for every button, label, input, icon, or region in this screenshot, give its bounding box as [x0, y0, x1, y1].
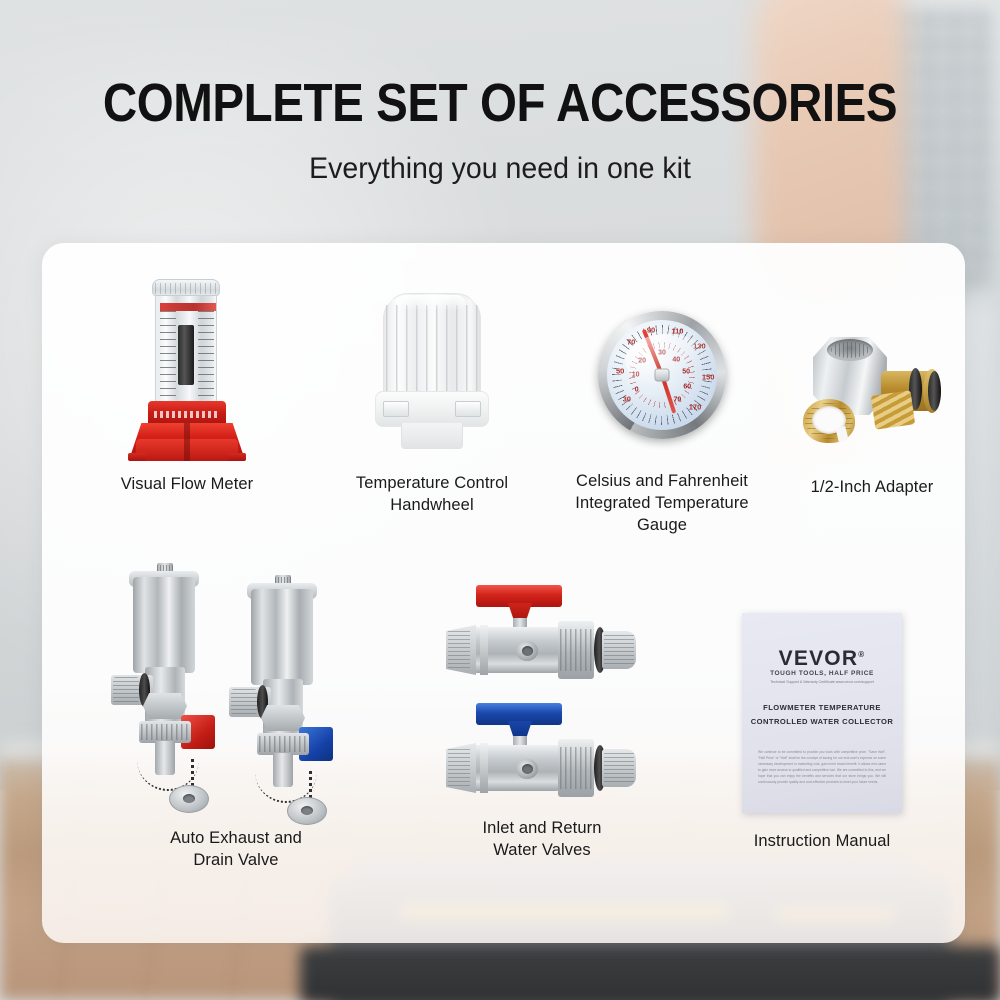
gauge-number-outer-8: 30: [623, 395, 631, 404]
flow-meter-foot-left: [128, 453, 146, 461]
registered-trademark-icon: ®: [858, 650, 865, 659]
auto-exhaust-valve-red: [111, 563, 221, 813]
header-block: COMPLETE SET OF ACCESSORIES Everything y…: [0, 0, 1000, 186]
item-label-visual-flow-meter: Visual Flow Meter: [72, 474, 302, 496]
manual-icon: VEVOR® TOUGH TOOLS, HALF PRICE Technical…: [742, 613, 902, 813]
adapter-nut-threads: [831, 342, 869, 358]
item-auto-exhaust-drain-valve[interactable]: Auto Exhaust and Drain Valve: [86, 563, 386, 872]
vevor-logo-text: VEVOR: [779, 647, 859, 670]
handwheel-window-left: [383, 401, 409, 417]
ball-valve-tail-threads: [604, 753, 634, 783]
item-inlet-return-water-valves[interactable]: Inlet and Return Water Valves: [392, 585, 692, 862]
manual-contact-line: Technical Support & Warranty Certificate…: [756, 680, 888, 684]
drain-cap-hole: [183, 794, 195, 803]
valve-side-port-threads: [113, 677, 139, 703]
valve-lower-nut-ridges: [141, 724, 189, 740]
handwheel-highlight: [397, 295, 465, 311]
gauge-glass-reflection: [625, 334, 709, 386]
valve-side-port-threads: [231, 689, 257, 715]
ball-valve-union-ridges: [560, 747, 592, 789]
background-tool-case-base: [300, 946, 1000, 1000]
adapter-o-ring-2: [928, 371, 941, 411]
drain-cap-hole: [301, 806, 313, 815]
accessories-row-bottom: Auto Exhaust and Drain Valve: [42, 563, 965, 933]
accessories-row-top: Visual Flow Meter Temperature Control Ha…: [42, 263, 965, 573]
ball-valve-hex-threads: [448, 631, 470, 669]
page-title: COMPLETE SET OF ACCESSORIES: [60, 72, 940, 134]
gauge-number-outer-2: 90: [647, 325, 655, 334]
handwheel-window-right: [455, 401, 481, 417]
auto-exhaust-valve-blue: [229, 575, 339, 825]
accessories-card: Visual Flow Meter Temperature Control Ha…: [42, 243, 965, 943]
air-vent-body: [251, 589, 313, 685]
ball-valve-blue: [442, 703, 642, 803]
handwheel-icon: [367, 291, 497, 451]
item-visual-flow-meter[interactable]: Visual Flow Meter: [72, 281, 302, 496]
gauge-face: 70 90 110 130 150 170 50 30 0 10 20 30 4…: [607, 320, 717, 430]
flow-meter-icon: [122, 281, 252, 456]
item-label-temperature-gauge: Celsius and Fahrenheit Integrated Temper…: [547, 471, 777, 536]
auto-exhaust-valve-icon: [111, 563, 361, 818]
item-label-instruction-manual: Instruction Manual: [692, 831, 952, 853]
valve-hex-section: [261, 705, 305, 731]
flow-meter-scale-right: [198, 311, 214, 397]
vevor-logo: VEVOR®: [742, 647, 902, 671]
item-label-auto-exhaust-drain-valve: Auto Exhaust and Drain Valve: [86, 828, 386, 872]
flow-meter-foot-right: [228, 453, 246, 461]
flow-meter-collar-text: [154, 411, 220, 418]
manual-product-title-line1: FLOWMETER TEMPERATURE: [750, 703, 894, 712]
item-instruction-manual[interactable]: VEVOR® TOUGH TOOLS, HALF PRICE Technical…: [692, 613, 952, 853]
manual-body-text: We continue to be committed to provide y…: [758, 749, 886, 786]
ball-valve-union-ridges: [560, 629, 592, 671]
adapter-barbed-end: [871, 390, 915, 429]
gauge-number-inner-1: 0: [635, 387, 639, 394]
gauge-number-outer-6: 170: [689, 402, 702, 411]
flow-meter-float: [178, 325, 194, 385]
manual-product-title-line2: CONTROLLED WATER COLLECTOR: [750, 717, 894, 726]
ball-valve-tail-threads: [604, 635, 634, 665]
item-temperature-control-handwheel[interactable]: Temperature Control Handwheel: [317, 291, 547, 517]
ball-valve-drain-hole: [522, 764, 533, 774]
adapter-icon: [797, 335, 947, 455]
ball-valve-hex-threads: [448, 749, 470, 787]
vevor-tagline: TOUGH TOOLS, HALF PRICE: [742, 670, 902, 677]
temperature-gauge-icon: 70 90 110 130 150 170 50 30 0 10 20 30 4…: [592, 305, 732, 445]
item-label-temperature-control-handwheel: Temperature Control Handwheel: [317, 473, 547, 517]
page-subtitle: Everything you need in one kit: [25, 152, 975, 186]
item-temperature-gauge[interactable]: 70 90 110 130 150 170 50 30 0 10 20 30 4…: [547, 305, 777, 536]
item-half-inch-adapter[interactable]: 1/2-Inch Adapter: [777, 335, 967, 499]
flow-meter-base-notch: [184, 423, 190, 461]
flow-meter-scale-left: [160, 311, 176, 397]
flow-meter-cap-ridges: [155, 283, 217, 294]
air-vent-body: [133, 577, 195, 673]
flow-meter-red-label: [160, 303, 216, 311]
item-label-inlet-return-water-valves: Inlet and Return Water Valves: [392, 818, 692, 862]
handwheel-ribs: [386, 305, 478, 395]
ball-valve-drain-hole: [522, 646, 533, 656]
gauge-number-outer-7: 50: [616, 366, 624, 375]
gauge-number-inner-8: 70: [673, 397, 681, 404]
ball-valve-red: [442, 585, 642, 685]
gauge-number-outer-5: 150: [702, 373, 715, 382]
ball-valve-mid-ring: [480, 625, 488, 675]
ball-valve-mid-ring: [480, 743, 488, 793]
valve-hex-section: [143, 693, 187, 719]
item-label-half-inch-adapter: 1/2-Inch Adapter: [777, 477, 967, 499]
gauge-number-inner-7: 60: [683, 384, 691, 391]
valve-lower-nut-ridges: [259, 736, 307, 752]
ball-valve-icon: [442, 585, 642, 810]
handwheel-stem: [401, 423, 463, 449]
